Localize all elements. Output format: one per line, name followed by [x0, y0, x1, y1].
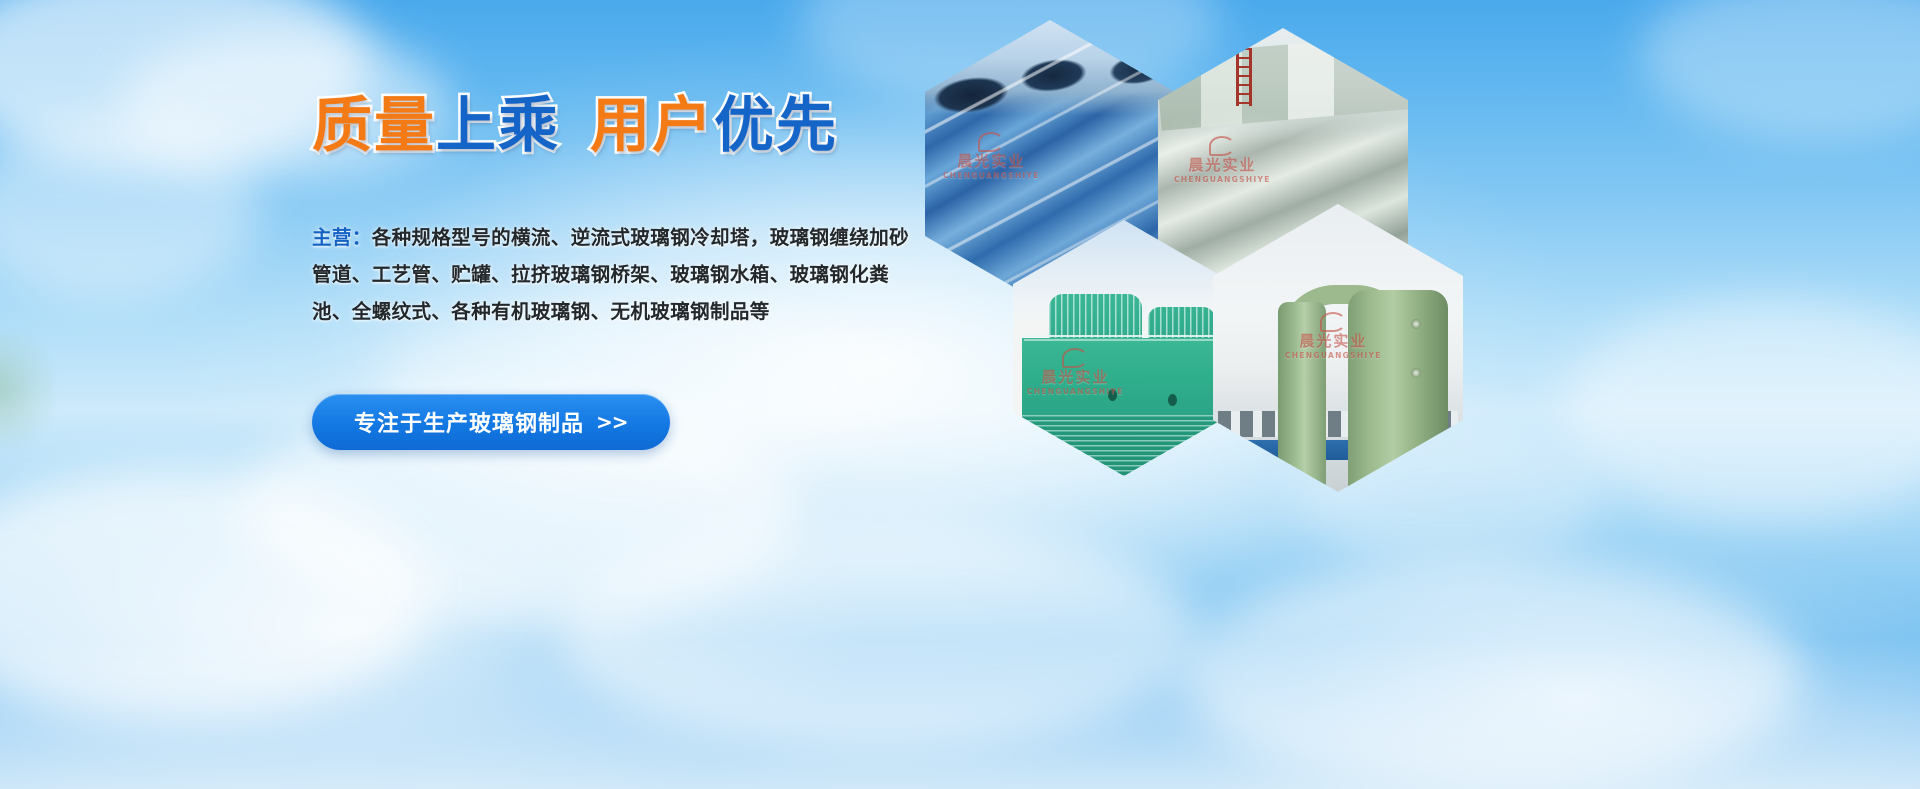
scrubber-tank — [1348, 290, 1448, 492]
double-chevron-right-icon: >> — [596, 410, 628, 434]
description-label: 主营： — [312, 226, 372, 249]
headline-char: 乘 — [498, 96, 560, 156]
scrubber-bolt — [1411, 368, 1421, 378]
headline-char: 量 — [374, 96, 436, 156]
banner-copy-column: 质量上乘用户优先 主营：各种规格型号的横流、逆流式玻璃钢冷却塔，玻璃钢缠绕加砂管… — [0, 0, 960, 789]
cooling-tower-louvers — [1022, 415, 1235, 476]
headline-char: 上 — [436, 96, 498, 156]
headline-char: 先 — [776, 96, 838, 156]
headline-char: 户 — [652, 96, 714, 156]
cooling-tower-railing — [1024, 335, 1224, 337]
red-ladder — [1236, 48, 1252, 106]
description-paragraph: 主营：各种规格型号的横流、逆流式玻璃钢冷却塔，玻璃钢缠绕加砂管道、工艺管、贮罐、… — [312, 219, 912, 330]
headline: 质量上乘用户优先 — [312, 96, 838, 156]
scrubber-bolt — [1411, 319, 1421, 329]
cta-label: 专注于生产玻璃钢制品 — [354, 406, 584, 438]
promo-banner: 质量上乘用户优先 主营：各种规格型号的横流、逆流式玻璃钢冷却塔，玻璃钢缠绕加砂管… — [0, 0, 1920, 789]
cta-button[interactable]: 专注于生产玻璃钢制品 >> — [312, 394, 670, 450]
description-body: 各种规格型号的横流、逆流式玻璃钢冷却塔，玻璃钢缠绕加砂管道、工艺管、贮罐、拉挤玻… — [312, 226, 909, 323]
headline-char: 用 — [590, 96, 652, 156]
factory-eave — [1213, 440, 1463, 460]
cloud-decoration — [1180, 560, 1800, 789]
headline-char: 优 — [714, 96, 776, 156]
scrubber-downpipe — [1278, 302, 1326, 492]
product-gallery: 晨光实业 CHENGUANGSHIYE 晨光实业 CHENGUANGSHIYE — [915, 8, 1455, 488]
cloud-decoration — [1640, 0, 1920, 140]
cloud-decoration — [1560, 300, 1920, 520]
headline-char: 质 — [312, 96, 374, 156]
